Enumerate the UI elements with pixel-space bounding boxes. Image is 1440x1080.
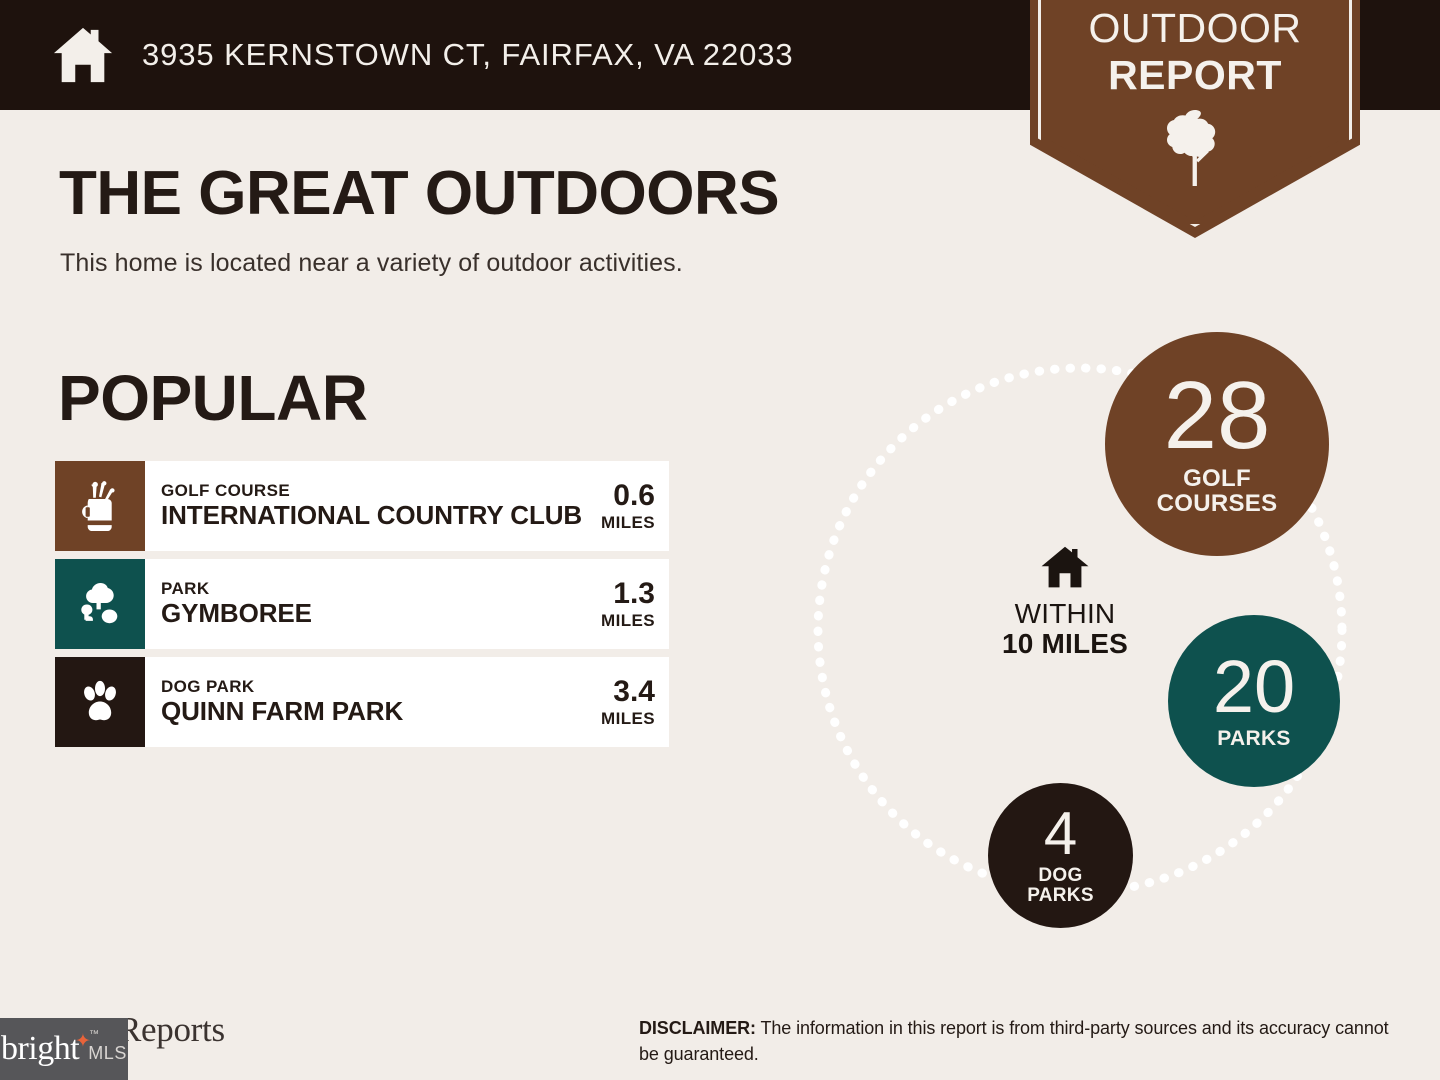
list-item-category: PARK bbox=[161, 580, 312, 598]
list-item-text: DOG PARK QUINN FARM PARK bbox=[161, 678, 403, 725]
list-item[interactable]: GOLF COURSE INTERNATIONAL COUNTRY CLUB 0… bbox=[55, 461, 669, 551]
home-icon bbox=[1040, 545, 1090, 589]
distance-unit: MILES bbox=[601, 710, 655, 727]
tree-icon bbox=[1163, 108, 1227, 188]
disclaimer-label: DISCLAIMER: bbox=[639, 1018, 756, 1038]
bubble-label-line-1: DOG bbox=[1027, 866, 1094, 885]
page-subtitle: This home is located near a variety of o… bbox=[60, 249, 683, 278]
property-address: 3935 KERNSTOWN CT, FAIRFAX, VA 22033 bbox=[142, 37, 794, 73]
popular-list: GOLF COURSE INTERNATIONAL COUNTRY CLUB 0… bbox=[55, 461, 669, 755]
badge-line-1: OUTDOOR bbox=[1030, 8, 1360, 49]
distance-value: 1.3 bbox=[601, 579, 655, 609]
distance-unit: MILES bbox=[601, 612, 655, 629]
list-item-text: PARK GYMBOREE bbox=[161, 580, 312, 627]
home-icon bbox=[52, 24, 114, 86]
list-item-name: INTERNATIONAL COUNTRY CLUB bbox=[161, 502, 582, 529]
list-item-distance: 1.3 MILES bbox=[591, 579, 655, 629]
trees-icon bbox=[76, 578, 124, 630]
bubble-label-line-2: COURSES bbox=[1157, 492, 1278, 516]
trademark-mark: ™ bbox=[89, 1030, 99, 1040]
within-10-miles-diagram: WITHIN 10 MILES 28 GOLF COURSES 20 PARKS… bbox=[760, 310, 1400, 950]
bubble-dog-parks: 4 DOG PARKS bbox=[988, 783, 1133, 928]
bubble-label-line-1: PARKS bbox=[1217, 728, 1290, 749]
logo-suffix: MLS bbox=[88, 1043, 127, 1064]
list-item-text: GOLF COURSE INTERNATIONAL COUNTRY CLUB bbox=[161, 482, 582, 529]
golf-bag-icon bbox=[76, 480, 124, 532]
bubble-value: 20 bbox=[1213, 653, 1295, 721]
bubble-value: 4 bbox=[1044, 806, 1077, 861]
bubble-label-line-1: GOLF bbox=[1157, 467, 1278, 491]
outdoor-report-badge: OUTDOOR REPORT bbox=[1030, 0, 1360, 238]
list-item[interactable]: DOG PARK QUINN FARM PARK 3.4 MILES bbox=[55, 657, 669, 747]
bubble-golf-courses: 28 GOLF COURSES bbox=[1105, 332, 1329, 556]
center-note-line-2: 10 MILES bbox=[975, 629, 1155, 659]
list-item-category: GOLF COURSE bbox=[161, 482, 582, 500]
list-item-distance: 3.4 MILES bbox=[591, 677, 655, 727]
bubble-parks: 20 PARKS bbox=[1168, 615, 1340, 787]
center-note-line-1: WITHIN bbox=[975, 599, 1155, 629]
golf-bag-icon-tile bbox=[55, 461, 145, 551]
paw-print-icon-tile bbox=[55, 657, 145, 747]
badge-line-2: REPORT bbox=[1030, 55, 1360, 96]
list-item-name: QUINN FARM PARK bbox=[161, 698, 403, 725]
logo-wrap: bright ✦ ™ MLS bbox=[1, 1030, 127, 1068]
list-item-body: GOLF COURSE INTERNATIONAL COUNTRY CLUB 0… bbox=[145, 461, 669, 551]
trees-icon-tile bbox=[55, 559, 145, 649]
outdoor-report-page: 3935 KERNSTOWN CT, FAIRFAX, VA 22033 OUT… bbox=[0, 0, 1440, 1080]
distance-value: 3.4 bbox=[601, 677, 655, 707]
bright-mls-logo: bright ✦ ™ MLS bbox=[0, 1018, 128, 1080]
disclaimer: DISCLAIMER: The information in this repo… bbox=[639, 1016, 1399, 1067]
list-item-category: DOG PARK bbox=[161, 678, 403, 696]
logo-brand: bright bbox=[1, 1030, 79, 1068]
list-item-name: GYMBOREE bbox=[161, 600, 312, 627]
page-title: THE GREAT OUTDOORS bbox=[59, 163, 779, 225]
diagram-center-note: WITHIN 10 MILES bbox=[975, 545, 1155, 659]
paw-print-icon bbox=[76, 676, 124, 728]
distance-value: 0.6 bbox=[601, 481, 655, 511]
section-title-popular: POPULAR bbox=[58, 366, 367, 430]
list-item[interactable]: PARK GYMBOREE 1.3 MILES bbox=[55, 559, 669, 649]
list-item-body: PARK GYMBOREE 1.3 MILES bbox=[145, 559, 669, 649]
bubble-label: DOG PARKS bbox=[1027, 866, 1094, 905]
badge-text: OUTDOOR REPORT bbox=[1030, 8, 1360, 96]
bubble-label: PARKS bbox=[1217, 728, 1290, 749]
distance-unit: MILES bbox=[601, 514, 655, 531]
bubble-value: 28 bbox=[1164, 372, 1271, 460]
bubble-label-line-2: PARKS bbox=[1027, 886, 1094, 905]
list-item-distance: 0.6 MILES bbox=[591, 481, 655, 531]
footer-watermark: Reports bbox=[118, 1010, 225, 1050]
bubble-label: GOLF COURSES bbox=[1157, 467, 1278, 516]
list-item-body: DOG PARK QUINN FARM PARK 3.4 MILES bbox=[145, 657, 669, 747]
